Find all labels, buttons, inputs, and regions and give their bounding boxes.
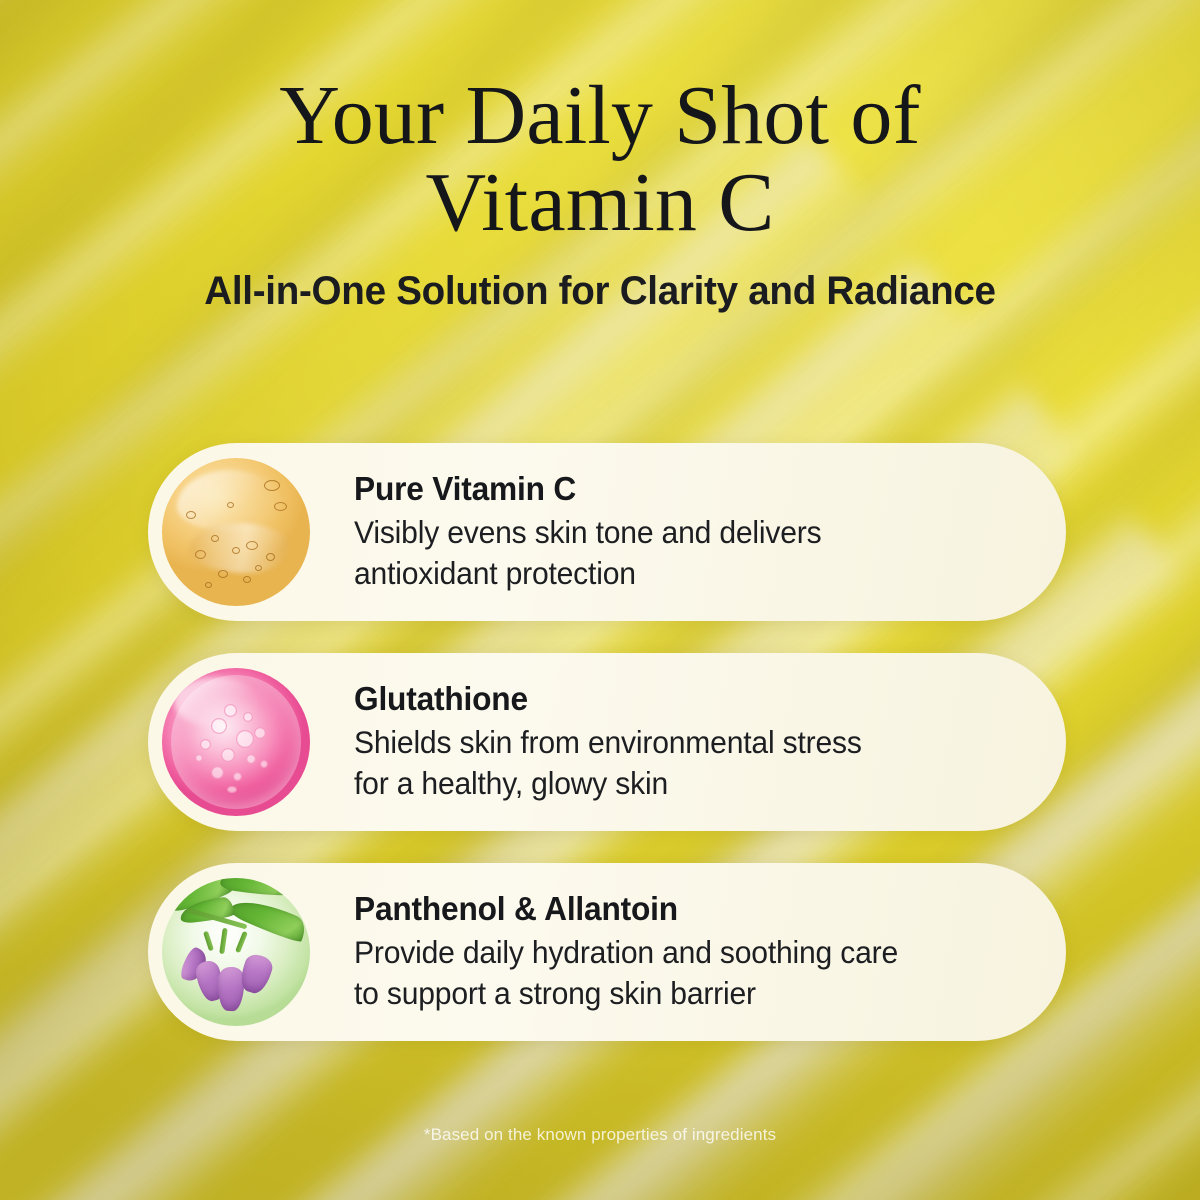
page-title: Your Daily Shot of Vitamin C <box>0 72 1200 247</box>
feature-card-glutathione: Glutathione Shields skin from environmen… <box>148 653 1066 831</box>
pink-gel-sphere-icon <box>162 668 310 816</box>
feature-card-description: Visibly evens skin tone and delivers ant… <box>354 512 994 594</box>
feature-card-title: Panthenol & Allantoin <box>354 890 997 929</box>
feature-card-title: Glutathione <box>354 680 997 719</box>
description-line-1: Visibly evens skin tone and delivers <box>354 512 994 553</box>
feature-card-text: Glutathione Shields skin from environmen… <box>310 680 1066 804</box>
feature-card-description: Provide daily hydration and soothing car… <box>354 932 994 1014</box>
headline-line-2: Vitamin C <box>0 159 1200 246</box>
golden-gel-swatch-icon <box>162 458 310 606</box>
feature-card-title: Pure Vitamin C <box>354 470 997 509</box>
footnote-disclaimer: *Based on the known properties of ingred… <box>0 1125 1200 1145</box>
feature-card-text: Panthenol & Allantoin Provide daily hydr… <box>310 890 1066 1014</box>
description-line-2: to support a strong skin barrier <box>354 973 994 1014</box>
headline-line-1: Your Daily Shot of <box>0 72 1200 159</box>
description-line-2: antioxidant protection <box>354 553 994 594</box>
description-line-1: Provide daily hydration and soothing car… <box>354 932 994 973</box>
feature-card-description: Shields skin from environmental stress f… <box>354 722 994 804</box>
description-line-2: for a healthy, glowy skin <box>354 763 994 804</box>
feature-card-text: Pure Vitamin C Visibly evens skin tone a… <box>310 470 1066 594</box>
page-subtitle: All-in-One Solution for Clarity and Radi… <box>21 269 1179 314</box>
comfrey-botanical-icon <box>162 878 310 1026</box>
description-line-1: Shields skin from environmental stress <box>354 722 994 763</box>
feature-card-list: Pure Vitamin C Visibly evens skin tone a… <box>148 443 1066 1041</box>
feature-card-pure-vitamin-c: Pure Vitamin C Visibly evens skin tone a… <box>148 443 1066 621</box>
feature-card-panthenol-allantoin: Panthenol & Allantoin Provide daily hydr… <box>148 863 1066 1041</box>
infographic-canvas: Your Daily Shot of Vitamin C All-in-One … <box>0 0 1200 1200</box>
header: Your Daily Shot of Vitamin C All-in-One … <box>0 72 1200 314</box>
